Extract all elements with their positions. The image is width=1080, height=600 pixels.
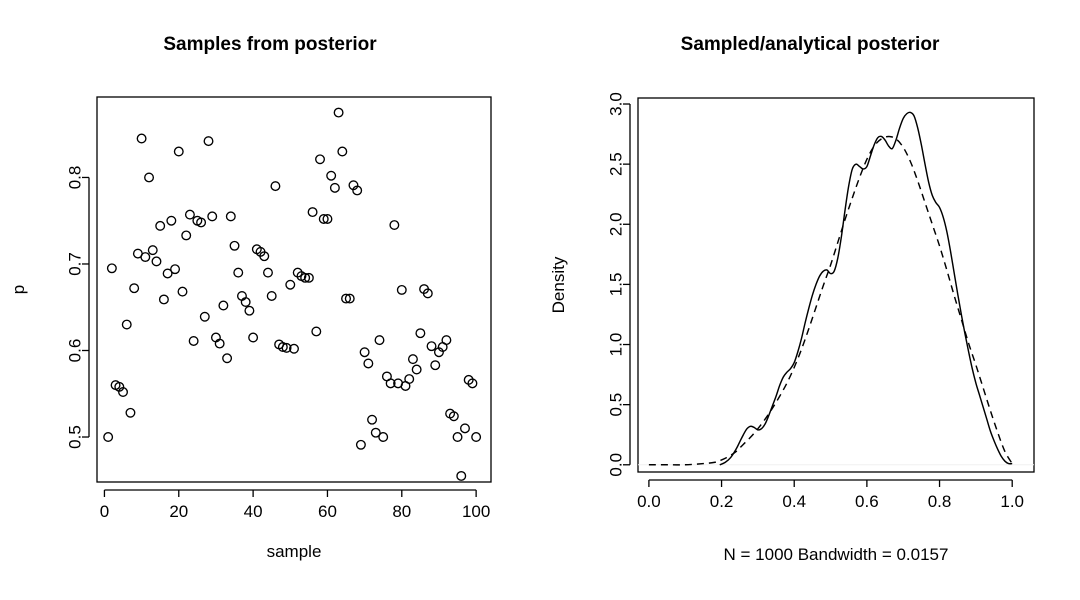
density-y-tick-label: 0.0 xyxy=(607,453,626,477)
scatter-point xyxy=(364,359,373,368)
scatter-point xyxy=(453,433,462,442)
scatter-point xyxy=(271,182,280,191)
scatter-y-tick-label: 0.7 xyxy=(66,252,85,276)
scatter-point xyxy=(200,312,209,321)
density-y-axis-label: Density xyxy=(549,256,568,313)
scatter-point xyxy=(160,295,169,304)
scatter-point xyxy=(308,208,317,217)
scatter-point xyxy=(405,375,414,384)
scatter-point xyxy=(316,155,325,164)
density-y-tick-label: 1.0 xyxy=(607,333,626,357)
scatter-point xyxy=(189,337,198,346)
scatter-point xyxy=(219,301,228,310)
scatter-point xyxy=(409,355,418,364)
scatter-point xyxy=(152,257,161,266)
scatter-point xyxy=(472,433,481,442)
scatter-point xyxy=(457,472,466,481)
scatter-point xyxy=(208,212,217,221)
scatter-point xyxy=(338,147,347,156)
scatter-x-axis-label: sample xyxy=(267,542,322,561)
scatter-point xyxy=(249,333,258,342)
scatter-point xyxy=(182,231,191,240)
scatter-point xyxy=(130,284,139,293)
scatter-point xyxy=(264,268,273,277)
scatter-point xyxy=(331,184,340,193)
scatter-y-tick-label: 0.8 xyxy=(66,166,85,190)
scatter-y-tick-label: 0.6 xyxy=(66,339,85,363)
scatter-point xyxy=(171,265,180,274)
scatter-point xyxy=(327,171,336,180)
scatter-plot-canvas: 0204060801000.50.60.70.8samplep xyxy=(0,0,540,600)
scatter-point xyxy=(137,134,146,143)
density-y-tick-label: 0.5 xyxy=(607,393,626,417)
scatter-point xyxy=(223,354,232,363)
scatter-y-tick-label: 0.5 xyxy=(66,425,85,449)
density-y-tick-label: 2.0 xyxy=(607,212,626,236)
scatter-plot-frame xyxy=(97,97,491,482)
density-y-tick-label: 1.5 xyxy=(607,273,626,297)
scatter-point xyxy=(312,327,321,336)
scatter-point xyxy=(412,365,421,374)
scatter-point xyxy=(286,280,295,289)
scatter-points-group xyxy=(104,108,481,480)
scatter-point xyxy=(267,292,276,301)
density-plot-canvas: 0.00.20.40.60.81.00.00.51.01.52.02.53.0D… xyxy=(540,0,1080,600)
scatter-point xyxy=(122,320,131,329)
sampled-density-curve xyxy=(720,112,1012,464)
scatter-point xyxy=(108,264,117,273)
scatter-x-tick-label: 100 xyxy=(462,502,490,521)
scatter-x-tick-label: 20 xyxy=(169,502,188,521)
density-x-tick-label: 0.2 xyxy=(710,492,734,511)
analytical-density-curve xyxy=(649,136,1012,464)
scatter-point xyxy=(416,329,425,338)
scatter-point xyxy=(174,147,183,156)
scatter-point xyxy=(227,212,236,221)
panel-samples-scatter: Samples from posterior 0204060801000.50.… xyxy=(0,0,540,600)
scatter-point xyxy=(368,415,377,424)
density-y-tick-label: 3.0 xyxy=(607,92,626,116)
scatter-point xyxy=(230,242,239,251)
scatter-point xyxy=(104,433,113,442)
scatter-x-tick-label: 0 xyxy=(100,502,109,521)
scatter-point xyxy=(357,441,366,450)
scatter-point xyxy=(245,306,254,315)
density-x-tick-label: 0.4 xyxy=(782,492,806,511)
scatter-point xyxy=(431,361,440,370)
scatter-point xyxy=(141,253,150,262)
scatter-point xyxy=(390,221,399,230)
density-x-tick-label: 0.8 xyxy=(928,492,952,511)
scatter-x-tick-label: 40 xyxy=(244,502,263,521)
scatter-point xyxy=(360,348,369,357)
density-subtitle: N = 1000 Bandwidth = 0.0157 xyxy=(724,545,949,564)
density-plot-frame xyxy=(638,98,1034,472)
scatter-point xyxy=(379,433,388,442)
scatter-point xyxy=(234,268,243,277)
density-x-tick-label: 0.6 xyxy=(855,492,879,511)
scatter-point xyxy=(145,173,154,182)
scatter-point xyxy=(148,246,157,255)
scatter-point xyxy=(442,336,451,345)
scatter-point xyxy=(397,286,406,295)
scatter-point xyxy=(186,210,195,219)
scatter-point xyxy=(126,408,135,417)
scatter-point xyxy=(375,336,384,345)
scatter-point xyxy=(334,108,343,117)
scatter-y-axis-label: p xyxy=(9,285,28,294)
scatter-point xyxy=(461,424,470,433)
scatter-point xyxy=(427,342,436,351)
density-x-tick-label: 1.0 xyxy=(1000,492,1024,511)
panel-density-comparison: Sampled/analytical posterior 0.00.20.40.… xyxy=(540,0,1080,600)
scatter-point xyxy=(156,222,165,231)
scatter-x-tick-label: 80 xyxy=(392,502,411,521)
scatter-point xyxy=(178,287,187,296)
scatter-point xyxy=(204,137,213,146)
scatter-x-tick-label: 60 xyxy=(318,502,337,521)
density-y-tick-label: 2.5 xyxy=(607,152,626,176)
density-x-tick-label: 0.0 xyxy=(637,492,661,511)
scatter-point xyxy=(167,216,176,225)
